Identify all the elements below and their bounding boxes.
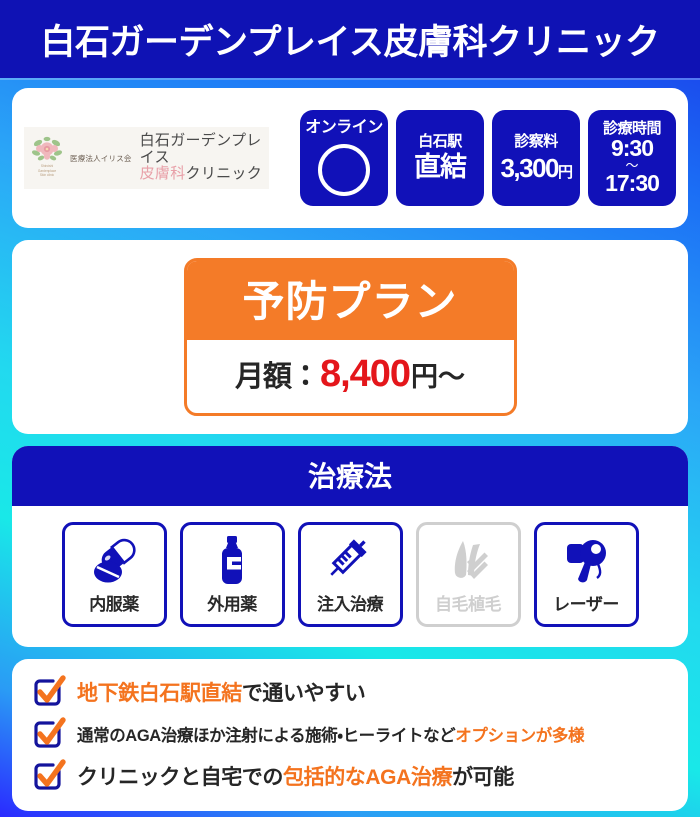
list-item-highlight: オプションが多様: [455, 727, 584, 745]
list-item-text: 通常のAGA治療ほか注射による施術・ヒーライトなどオプションが多様: [77, 722, 584, 746]
badge-list: オンライン 白石駅 直結 診察料 3,300円 診療時間 9:30 〜 17:3…: [300, 110, 676, 206]
checkbox-checked-icon: [32, 675, 66, 709]
list-item: 地下鉄白石駅直結で通いやすい: [12, 671, 688, 713]
laser-device-icon: [560, 534, 612, 588]
consult-fee-unit: 円: [558, 164, 572, 181]
badge-station[interactable]: 白石駅 直結: [396, 110, 484, 206]
clinic-logo: Shiroishi Gardenplace Skin clinic 医療法人イリ…: [24, 127, 269, 189]
badge-online-label: オンライン: [305, 120, 383, 137]
logo-corporation-name: 医療法人イリス会: [70, 153, 132, 164]
list-item-text: クリニックと自宅での包括的なAGA治療が可能: [77, 761, 514, 791]
body-wrapper: Shiroishi Gardenplace Skin clinic 医療法人イリ…: [0, 78, 700, 811]
flower-emblem-icon: Shiroishi Gardenplace Skin clinic: [30, 136, 64, 180]
logo-clinic-name: 白石ガーデンプレイス 皮膚科クリニック: [140, 133, 263, 183]
list-item-plain: クリニックと自宅での: [77, 766, 283, 789]
treatment-list: 内服薬 外用薬: [12, 506, 688, 647]
badge-consult-fee-value: 3,300円: [500, 155, 571, 182]
pill-capsule-icon: [88, 534, 140, 588]
plan-price-amount: 8,400: [320, 353, 410, 396]
hair-follicle-icon: [443, 534, 493, 588]
syringe-icon: [324, 534, 376, 588]
plan-price-prefix: 月額：: [235, 353, 319, 395]
treatment-item-jimou-shokumou[interactable]: 自毛植毛: [416, 522, 521, 627]
badge-online[interactable]: オンライン: [300, 110, 388, 206]
bottle-icon: [215, 534, 249, 588]
flyer-page: 白石ガーデンプレイス皮膚科クリニック: [0, 0, 700, 817]
logo-name-clinic: クリニック: [186, 166, 263, 182]
badge-hours-to: 17:30: [605, 172, 659, 195]
list-item-highlight: 地下鉄白石駅直結: [77, 682, 242, 705]
list-item-plain-2: が可能: [452, 766, 514, 789]
page-header: 白石ガーデンプレイス皮膚科クリニック: [0, 0, 700, 78]
checklist-card: 地下鉄白石駅直結で通いやすい 通常のAGA治療ほか注射による施術・ヒーライトなど…: [12, 659, 688, 811]
badge-hours-from: 9:30: [611, 137, 653, 160]
circle-outline-icon: [318, 144, 370, 196]
logo-name-line1: 白石ガーデンプレイス: [140, 133, 263, 167]
badge-consult-fee-label: 診察料: [514, 134, 558, 150]
list-item-plain: で通いやすい: [242, 682, 366, 705]
treatment-item-chunyu-chiryo[interactable]: 注入治療: [298, 522, 403, 627]
logo-subtext: Shiroishi Gardenplace Skin clinic: [38, 164, 56, 178]
logo-name-line2: 皮膚科クリニック: [140, 166, 263, 183]
plan-price-suffix: 円〜: [411, 355, 465, 394]
treatment-item-label: 外用薬: [207, 590, 257, 615]
logo-name-dermatology: 皮膚科: [140, 166, 186, 182]
badge-consult-fee[interactable]: 診察料 3,300円: [492, 110, 580, 206]
treatment-item-label: 注入治療: [317, 590, 383, 615]
list-item: クリニックと自宅での包括的なAGA治療が可能: [12, 755, 688, 797]
plan-title: 予防プラン: [187, 261, 514, 340]
page-title: 白石ガーデンプレイス皮膚科クリニック: [41, 14, 660, 65]
plan-card: 予防プラン 月額： 8,400 円〜: [12, 240, 688, 434]
checkbox-checked-icon: [32, 759, 66, 793]
list-item-text: 地下鉄白石駅直結で通いやすい: [77, 677, 365, 707]
badge-station-label: 白石駅: [418, 134, 462, 150]
badge-station-value: 直結: [414, 153, 466, 181]
consult-fee-amount: 3,300: [500, 153, 558, 183]
treatment-card: 治療法 内服薬: [12, 446, 688, 647]
treatment-item-naifukuyaku[interactable]: 内服薬: [62, 522, 167, 627]
treatment-item-label: レーザー: [553, 590, 619, 615]
treatment-item-label: 内服薬: [89, 590, 139, 615]
badge-hours[interactable]: 診療時間 9:30 〜 17:30: [588, 110, 676, 206]
plan-price-row: 月額： 8,400 円〜: [187, 340, 514, 413]
treatment-item-laser[interactable]: レーザー: [534, 522, 639, 627]
list-item: 通常のAGA治療ほか注射による施術・ヒーライトなどオプションが多様: [12, 713, 688, 755]
treatment-heading: 治療法: [12, 446, 688, 506]
plan-box: 予防プラン 月額： 8,400 円〜: [184, 258, 517, 416]
list-item-plain: 通常のAGA治療ほか注射による施術・ヒーライトなど: [77, 727, 455, 745]
list-item-highlight: 包括的なAGA治療: [283, 766, 452, 789]
clinic-info-card: Shiroishi Gardenplace Skin clinic 医療法人イリ…: [12, 88, 688, 228]
checkbox-checked-icon: [32, 717, 66, 751]
treatment-item-label: 自毛植毛: [435, 590, 501, 615]
treatment-item-gaiyouyaku[interactable]: 外用薬: [180, 522, 285, 627]
